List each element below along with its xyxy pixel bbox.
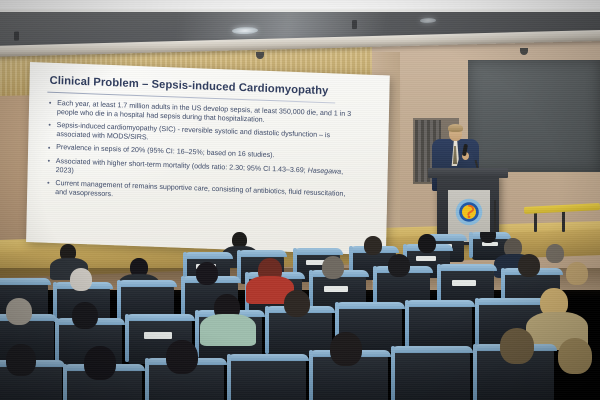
audience-head [6, 298, 32, 325]
audience-head [70, 268, 92, 291]
audience-head [546, 244, 564, 263]
wall-acoustic-panel [468, 60, 600, 172]
audience-head [322, 256, 344, 279]
audience-head [388, 254, 410, 277]
institution-seal-icon [455, 198, 483, 226]
audience-head [418, 234, 436, 253]
presentation-slide: Clinical Problem – Sepsis-induced Cardio… [26, 62, 390, 255]
ceiling-fixture-icon [352, 20, 357, 29]
seat-number-label [416, 256, 436, 261]
audience-head [518, 254, 540, 277]
letterbox-top [0, 0, 600, 9]
audience-head [6, 344, 36, 376]
seat [408, 302, 472, 350]
projection-screen: Clinical Problem – Sepsis-induced Cardio… [26, 62, 390, 255]
audience-head [364, 236, 382, 255]
letterbox-strip [0, 9, 600, 12]
slide-bullet-list: Each year, at least 1.7 million adults i… [47, 99, 359, 213]
audience-head [72, 302, 98, 329]
audience-head [330, 332, 362, 366]
audience-head [84, 346, 116, 380]
podium-top-surface [428, 168, 508, 178]
speaker-hair [448, 124, 463, 132]
ceiling-fixture-icon [14, 31, 19, 40]
audience [0, 232, 600, 400]
audience-shoulders [200, 314, 256, 346]
seat [230, 356, 306, 400]
audience-head [566, 262, 588, 285]
audience-head [558, 338, 592, 374]
audience-head [196, 262, 218, 285]
lecture-hall-photo: Clinical Problem – Sepsis-induced Cardio… [0, 0, 600, 400]
audience-head [284, 290, 310, 317]
seat-number-label [144, 332, 172, 339]
seat-number-label [452, 280, 476, 286]
slide-title: Clinical Problem – Sepsis-induced Cardio… [49, 75, 349, 98]
audience-head [166, 340, 198, 374]
ceiling-downlight-icon [420, 18, 436, 23]
seat-number-label [324, 286, 348, 292]
audience-head [500, 328, 534, 364]
seat [394, 348, 470, 400]
